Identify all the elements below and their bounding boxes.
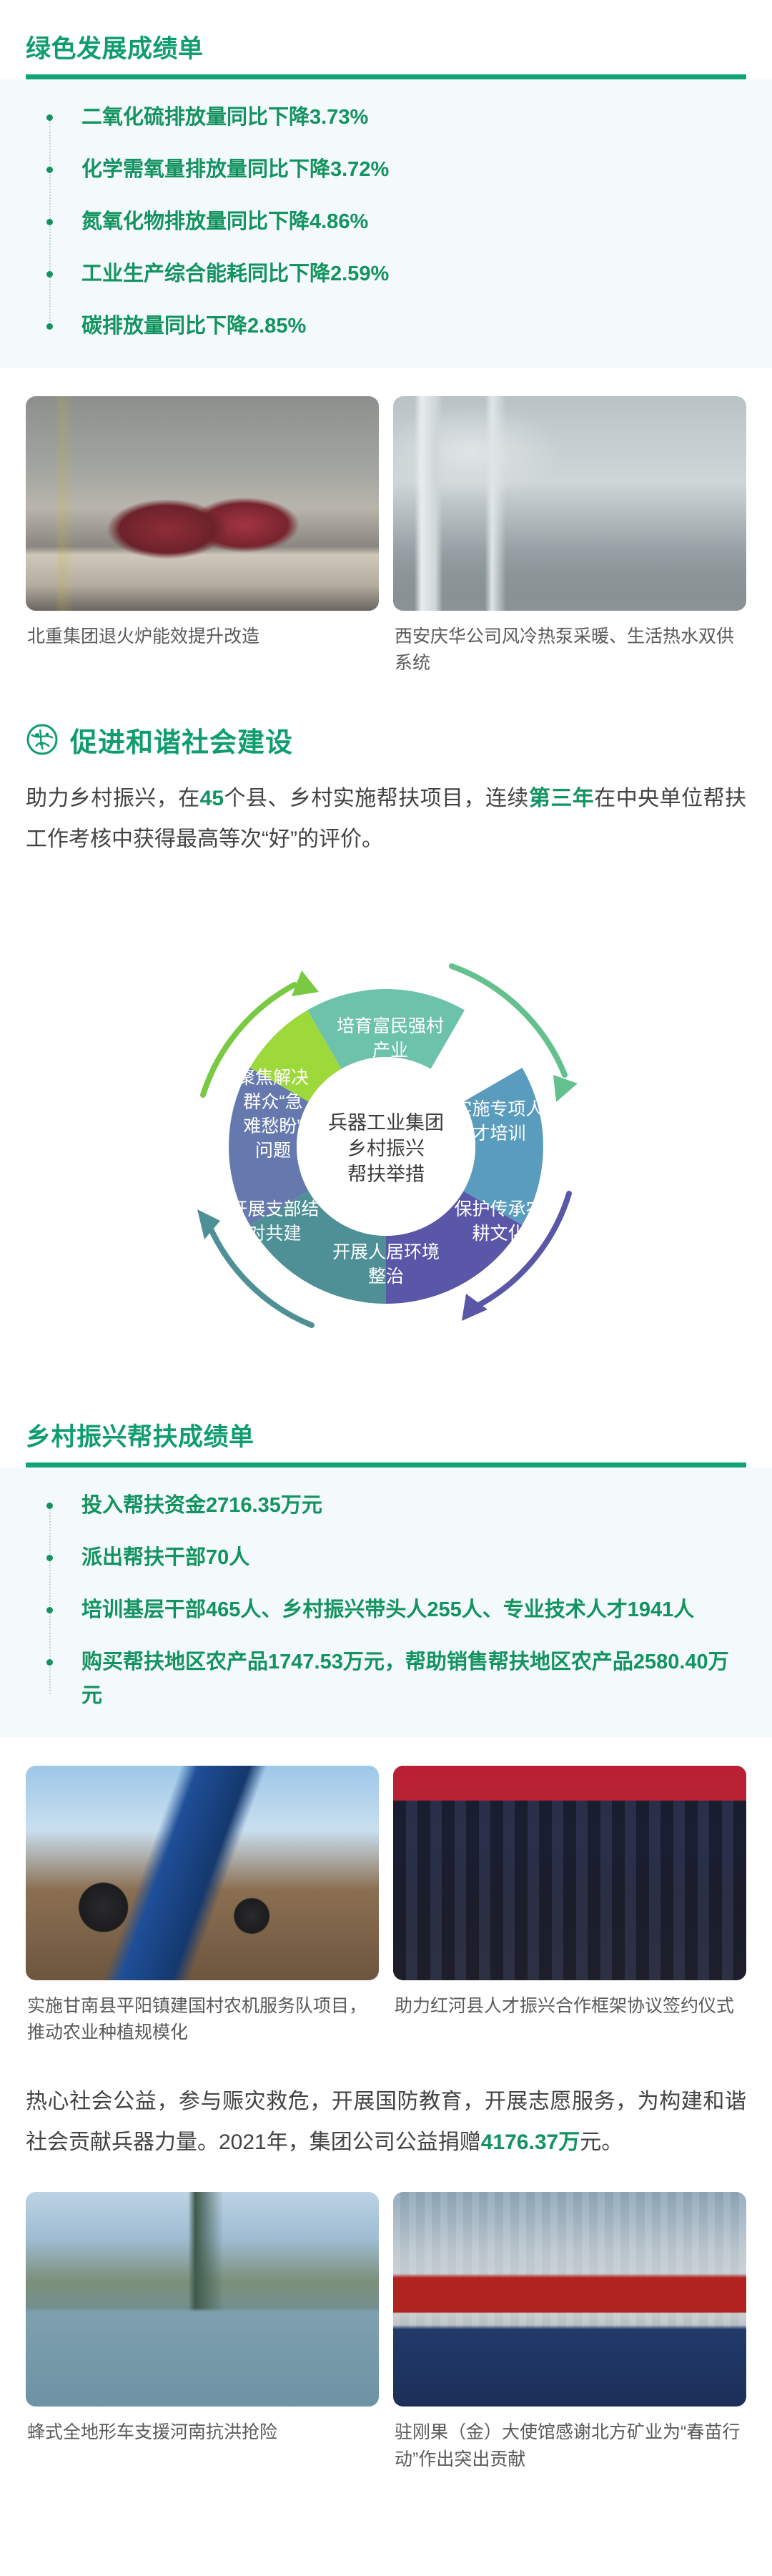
paragraph-run: 元。 — [580, 2130, 623, 2154]
list-item: 派出帮扶干部70人 — [40, 1541, 741, 1575]
green-card-heading: 绿色发展成绩单 — [26, 34, 746, 74]
donut-segments: 兵器工业集团 乡村振兴 帮扶举措 培育富民强村 产业 实施专项人 才培训 保护传… — [197, 966, 578, 1325]
rural-scorecard-card: 乡村振兴帮扶成绩单 — [0, 1422, 772, 1468]
photo-card: 蜂式全地形车支援河南抗洪抢险 — [26, 2192, 379, 2473]
donut-svg: 兵器工业集团 乡村振兴 帮扶举措 培育富民强村 产业 实施专项人 才培训 保护传… — [136, 889, 636, 1390]
photo-caption: 实施甘南县平阳镇建国村农机服务队项目，推动农业种植规模化 — [26, 1980, 379, 2047]
list-item: 培训基层干部465人、乡村振兴带头人255人、专业技术人才1941人 — [40, 1593, 741, 1627]
list-item: 氮氧化物排放量同比下降4.86% — [40, 205, 741, 239]
green-development-card: 绿色发展成绩单 — [0, 34, 772, 79]
rural-photo-row: 实施甘南县平阳镇建国村农机服务队项目，推动农业种植规模化 助力红河县人才振兴合作… — [0, 1766, 772, 2047]
photo-caption: 驻刚果（金）大使馆感谢北方矿业为“春苗行动”作出突出贡献 — [393, 2407, 746, 2473]
rural-revitalization-donut-chart: 兵器工业集团 乡村振兴 帮扶举措 培育富民强村 产业 实施专项人 才培训 保护传… — [0, 860, 772, 1404]
photo-caption: 北重集团退火炉能效提升改造 — [26, 611, 379, 651]
donut-label-5-line-3: 问题 — [255, 1141, 291, 1161]
list-item: 工业生产综合能耗同比下降2.59% — [40, 257, 741, 291]
donut-label-1-line-1: 才培训 — [472, 1124, 525, 1144]
paragraph-highlight: 4176.37万 — [481, 2130, 580, 2154]
amphibious-vehicle-flood-rescue-photo — [26, 2192, 379, 2407]
paragraph-highlight: 45 — [200, 787, 224, 810]
donut-label-0-line-1: 产业 — [372, 1041, 408, 1061]
rural-card-rule — [26, 1462, 746, 1468]
donut-label-5-line-1: 群众“急 — [243, 1092, 302, 1112]
globe-network-icon — [26, 723, 59, 756]
green-card-rule — [26, 74, 746, 79]
donut-center-line-2: 帮扶举措 — [347, 1164, 425, 1185]
charity-paragraph: 热心社会公益，参与赈灾救危，开展国防教育，开展志愿服务，为构建和谐社会贡献兵器力… — [0, 2081, 772, 2163]
photo-card: 驻刚果（金）大使馆感谢北方矿业为“春苗行动”作出突出贡献 — [393, 2192, 746, 2473]
green-photo-row: 北重集团退火炉能效提升改造 西安庆华公司风冷热泵采暖、生活热水双供系统 — [0, 396, 772, 677]
rural-card-heading: 乡村振兴帮扶成绩单 — [26, 1422, 746, 1462]
tractor-farm-machinery-photo — [26, 1766, 379, 1980]
annealing-furnace-photo — [26, 396, 379, 611]
paragraph-run: 个县、乡村实施帮扶项目，连续 — [224, 787, 529, 810]
photo-caption: 助力红河县人才振兴合作框架协议签约仪式 — [393, 1980, 746, 2020]
rural-bullet-card: 投入帮扶资金2716.35万元 派出帮扶干部70人 培训基层干部465人、乡村振… — [0, 1468, 772, 1737]
donut-label-1-line-0: 实施专项人 — [454, 1099, 543, 1119]
donut-center-line-1: 乡村振兴 — [347, 1138, 425, 1159]
green-bullet-card: 二氧化硫排放量同比下降3.73% 化学需氧量排放量同比下降3.72% 氮氧化物排… — [0, 79, 772, 368]
green-bullet-list: 二氧化硫排放量同比下降3.73% 化学需氧量排放量同比下降3.72% 氮氧化物排… — [0, 101, 772, 343]
paragraph-run: 热心社会公益，参与赈灾救危，开展国防教育，开展志愿服务，为构建和谐社会贡献兵器力… — [26, 2090, 746, 2155]
donut-label-2-line-0: 保护传承农 — [454, 1199, 543, 1219]
donut-label-3-line-0: 开展人居环境 — [332, 1242, 440, 1262]
report-page: 绿色发展成绩单 二氧化硫排放量同比下降3.73% 化学需氧量排放量同比下降3.7… — [0, 0, 772, 2576]
donut-label-5-line-2: 难愁盼” — [243, 1116, 302, 1136]
heat-pump-plant-photo — [393, 396, 746, 611]
donut-center-line-0: 兵器工业集团 — [328, 1112, 444, 1134]
donut-label-0-line-0: 培育富民强村 — [337, 1016, 444, 1036]
rural-bullet-list: 投入帮扶资金2716.35万元 派出帮扶干部70人 培训基层干部465人、乡村振… — [0, 1489, 772, 1713]
photo-card: 助力红河县人才振兴合作框架协议签约仪式 — [393, 1766, 746, 2047]
photo-card: 实施甘南县平阳镇建国村农机服务队项目，推动农业种植规模化 — [26, 1766, 379, 2047]
photo-caption: 西安庆华公司风冷热泵采暖、生活热水双供系统 — [393, 611, 746, 677]
charity-photo-row: 蜂式全地形车支援河南抗洪抢险 驻刚果（金）大使馆感谢北方矿业为“春苗行动”作出突… — [0, 2192, 772, 2473]
paragraph-run: 助力乡村振兴，在 — [26, 787, 200, 810]
harmony-heading-label: 促进和谐社会建设 — [70, 720, 293, 759]
photo-card: 北重集团退火炉能效提升改造 — [26, 396, 379, 677]
vaccination-spring-seedling-photo — [393, 2192, 746, 2407]
list-item: 化学需氧量排放量同比下降3.72% — [40, 153, 741, 187]
donut-label-2-line-1: 耕文化 — [472, 1224, 525, 1244]
donut-label-5-line-0: 聚焦解决 — [237, 1068, 309, 1088]
list-item: 碳排放量同比下降2.85% — [40, 310, 741, 343]
photo-card: 西安庆华公司风冷热泵采暖、生活热水双供系统 — [393, 396, 746, 677]
donut-label-4-line-0: 开展支部结 — [229, 1199, 319, 1219]
donut-label-4-line-1: 对共建 — [247, 1224, 301, 1244]
harmony-paragraph: 助力乡村振兴，在45个县、乡村实施帮扶项目，连续第三年在中央单位帮扶工作考核中获… — [0, 778, 772, 860]
list-item: 二氧化硫排放量同比下降3.73% — [40, 101, 741, 134]
harmony-section-heading: 促进和谐社会建设 — [0, 720, 772, 759]
donut-label-3-line-1: 整治 — [368, 1267, 404, 1287]
list-item: 购买帮扶地区农产品1747.53万元，帮助销售帮扶地区农产品2580.40万元 — [40, 1646, 741, 1713]
agreement-signing-ceremony-photo — [393, 1766, 746, 1980]
photo-caption: 蜂式全地形车支援河南抗洪抢险 — [26, 2407, 379, 2447]
list-item: 投入帮扶资金2716.35万元 — [40, 1489, 741, 1523]
paragraph-highlight: 第三年 — [529, 787, 594, 810]
